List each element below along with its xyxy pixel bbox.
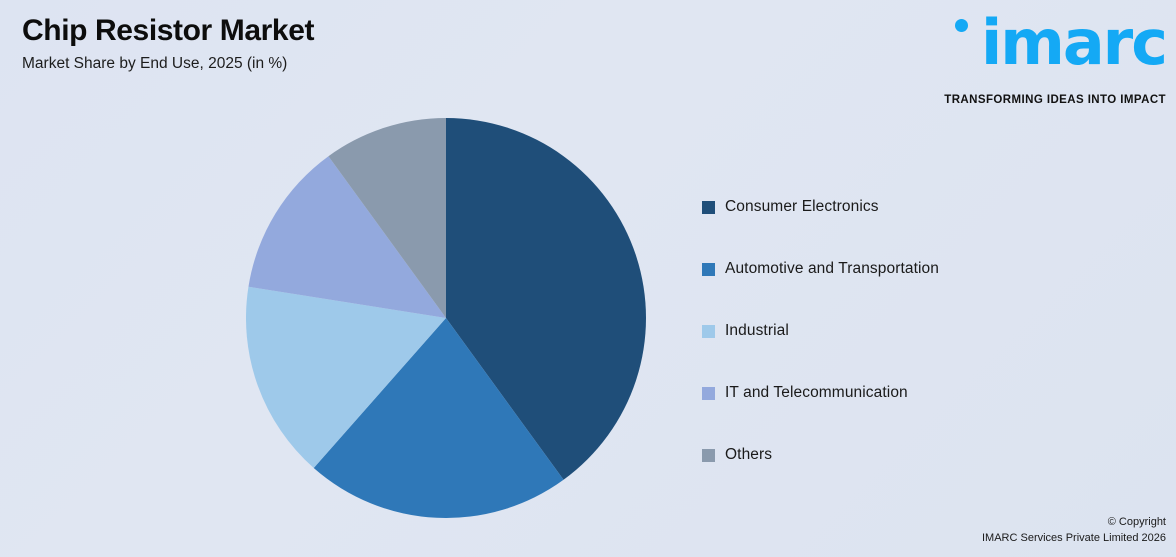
chart-legend: Consumer ElectronicsAutomotive and Trans… bbox=[702, 176, 1122, 486]
logo-tagline: TRANSFORMING IDEAS INTO IMPACT bbox=[944, 94, 1166, 106]
legend-item[interactable]: Consumer Electronics bbox=[702, 176, 1122, 238]
legend-swatch-icon bbox=[702, 201, 715, 214]
header: Chip Resistor Market Market Share by End… bbox=[22, 14, 642, 73]
legend-item-label: IT and Telecommunication bbox=[725, 384, 908, 402]
legend-swatch-icon bbox=[702, 325, 715, 338]
logo-dot-icon bbox=[955, 19, 968, 32]
pie-slice-group bbox=[246, 118, 646, 518]
legend-item[interactable]: Industrial bbox=[702, 300, 1122, 362]
legend-item-label: Automotive and Transportation bbox=[725, 260, 939, 278]
legend-item[interactable]: Automotive and Transportation bbox=[702, 238, 1122, 300]
legend-item[interactable]: Others bbox=[702, 424, 1122, 486]
copyright-line-1: © Copyright bbox=[982, 515, 1166, 531]
legend-swatch-icon bbox=[702, 449, 715, 462]
logo-wordmark: imarc bbox=[981, 12, 1166, 74]
copyright-notice: © Copyright IMARC Services Private Limit… bbox=[982, 515, 1166, 547]
chart-page: Chip Resistor Market Market Share by End… bbox=[0, 0, 1176, 557]
imarc-logo: imarc TRANSFORMING IDEAS INTO IMPACT bbox=[928, 8, 1168, 112]
page-title: Chip Resistor Market bbox=[22, 14, 642, 48]
legend-swatch-icon bbox=[702, 387, 715, 400]
page-subtitle: Market Share by End Use, 2025 (in %) bbox=[22, 55, 642, 73]
legend-item-label: Others bbox=[725, 446, 772, 464]
legend-item-label: Industrial bbox=[725, 322, 789, 340]
logo-mark: imarc bbox=[928, 8, 1168, 82]
legend-item[interactable]: IT and Telecommunication bbox=[702, 362, 1122, 424]
pie-chart-svg bbox=[246, 118, 646, 518]
copyright-line-2: IMARC Services Private Limited 2026 bbox=[982, 531, 1166, 547]
legend-item-label: Consumer Electronics bbox=[725, 198, 879, 216]
pie-chart bbox=[246, 118, 646, 518]
legend-swatch-icon bbox=[702, 263, 715, 276]
